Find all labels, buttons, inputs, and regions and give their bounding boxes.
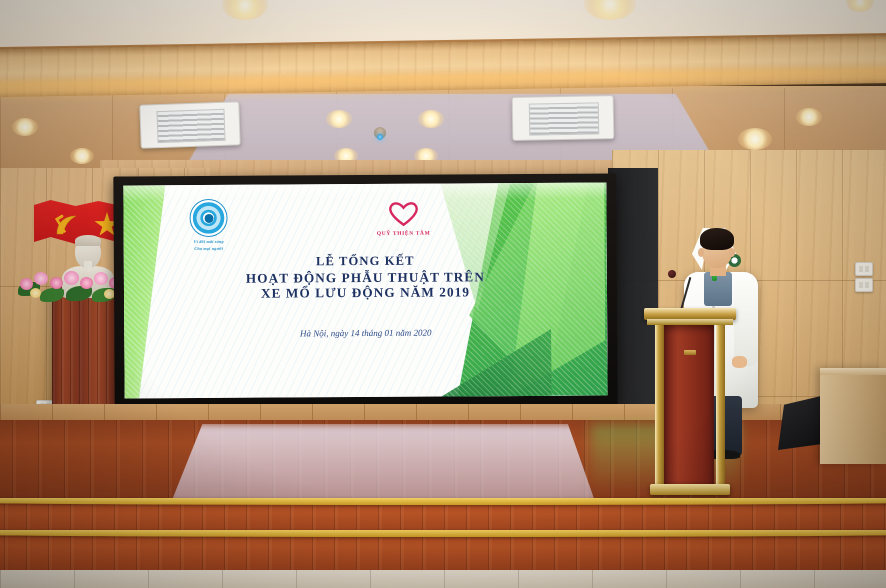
downlight-icon <box>738 128 772 150</box>
podium-base <box>650 484 730 495</box>
photograph-scene: Vì đôi mắt sáng Cho mọi người QUỸ THIỆN … <box>0 0 886 588</box>
ear-right <box>729 248 735 257</box>
tiled-floor <box>0 570 886 588</box>
slide-background: Vì đôi mắt sáng Cho mọi người QUỸ THIỆN … <box>123 183 607 399</box>
stage-step-nosing-lower <box>0 530 886 537</box>
heart-icon <box>386 200 420 230</box>
hammer-and-sickle-icon <box>54 213 80 237</box>
podium-leg-right <box>716 324 725 488</box>
projection-screen-bezel: Vì đôi mắt sáng Cho mọi người QUỸ THIỆN … <box>113 173 617 408</box>
eye-emblem-icon <box>189 199 227 237</box>
downlight-icon <box>418 110 444 128</box>
ac-cassette-right-icon <box>512 95 615 141</box>
stage-step-nosing-upper <box>0 498 886 505</box>
quy-thien-tam-logo: QUỸ THIỆN TÂM <box>355 199 451 237</box>
gooseneck-microphone <box>660 268 696 312</box>
slide-title: LỄ TỔNG KẾT HOẠT ĐỘNG PHẪU THUẬT TRÊN XE… <box>124 253 607 302</box>
wall-switch-plate[interactable] <box>855 262 873 276</box>
downlight-icon <box>70 148 94 164</box>
eye-hospital-logo-caption-1: Vì đôi mắt sáng <box>172 239 246 245</box>
hair <box>700 228 734 250</box>
podium-leg-left <box>655 324 664 488</box>
podium-front-panel <box>664 325 714 485</box>
quy-thien-tam-caption: QUỸ THIỆN TÂM <box>356 230 452 237</box>
ear-left <box>698 248 704 257</box>
podium-top-rail-lower <box>647 319 733 325</box>
wooden-podium <box>650 308 730 498</box>
smoke-detector-icon <box>374 127 386 139</box>
podium-emblem <box>684 350 696 355</box>
downlight-icon <box>326 110 352 128</box>
wall-switch-plate[interactable] <box>855 278 873 292</box>
wood-cabinet <box>820 368 886 464</box>
downlight-icon <box>12 118 38 136</box>
eye-hospital-logo: Vì đôi mắt sáng Cho mọi người <box>171 199 245 252</box>
eye-hospital-logo-caption-2: Cho mọi người <box>172 246 246 252</box>
downlight-icon <box>796 108 822 126</box>
ac-cassette-left-icon <box>139 101 240 148</box>
slide-title-line-3: XE MỔ LƯU ĐỘNG NĂM 2019 <box>124 284 607 302</box>
stage-step-lower <box>0 534 886 574</box>
hand <box>732 356 747 368</box>
presentation-screen: Vì đôi mắt sáng Cho mọi người QUỸ THIỆN … <box>123 183 607 399</box>
right-arm <box>734 280 758 366</box>
shirt <box>704 272 732 306</box>
